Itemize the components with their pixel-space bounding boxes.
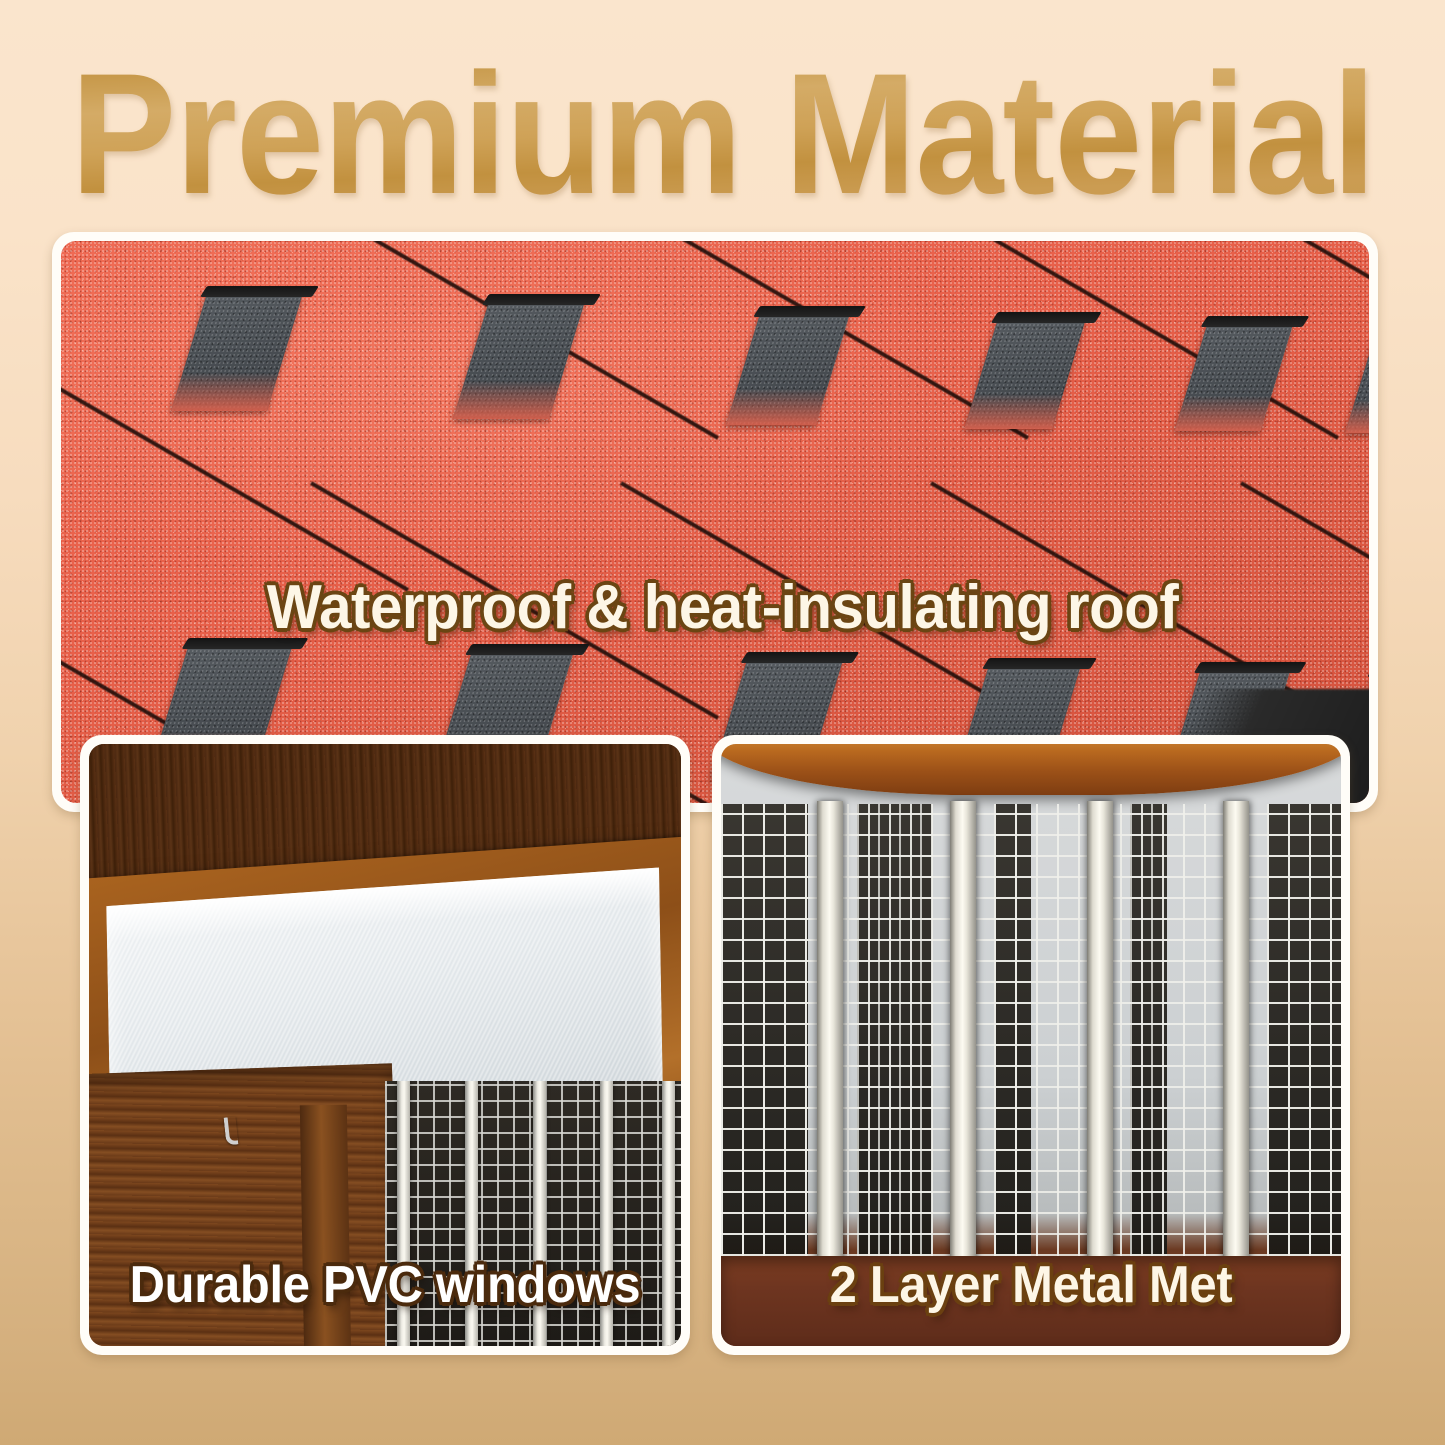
page-title-container: Premium Material xyxy=(0,46,1445,221)
mesh-caption: 2 Layer Metal Met xyxy=(731,1255,1331,1315)
metal-bar xyxy=(950,801,976,1262)
metal-bar xyxy=(1087,801,1113,1262)
metal-bar xyxy=(1223,801,1249,1262)
page-title: Premium Material xyxy=(70,48,1374,220)
roof-photo xyxy=(61,241,1369,803)
roof-image-panel xyxy=(52,232,1378,812)
roof-caption: Waterproof & heat-insulating roof xyxy=(43,572,1401,643)
metal-bar xyxy=(817,801,843,1262)
pvc-caption: Durable PVC windows xyxy=(98,1255,671,1315)
